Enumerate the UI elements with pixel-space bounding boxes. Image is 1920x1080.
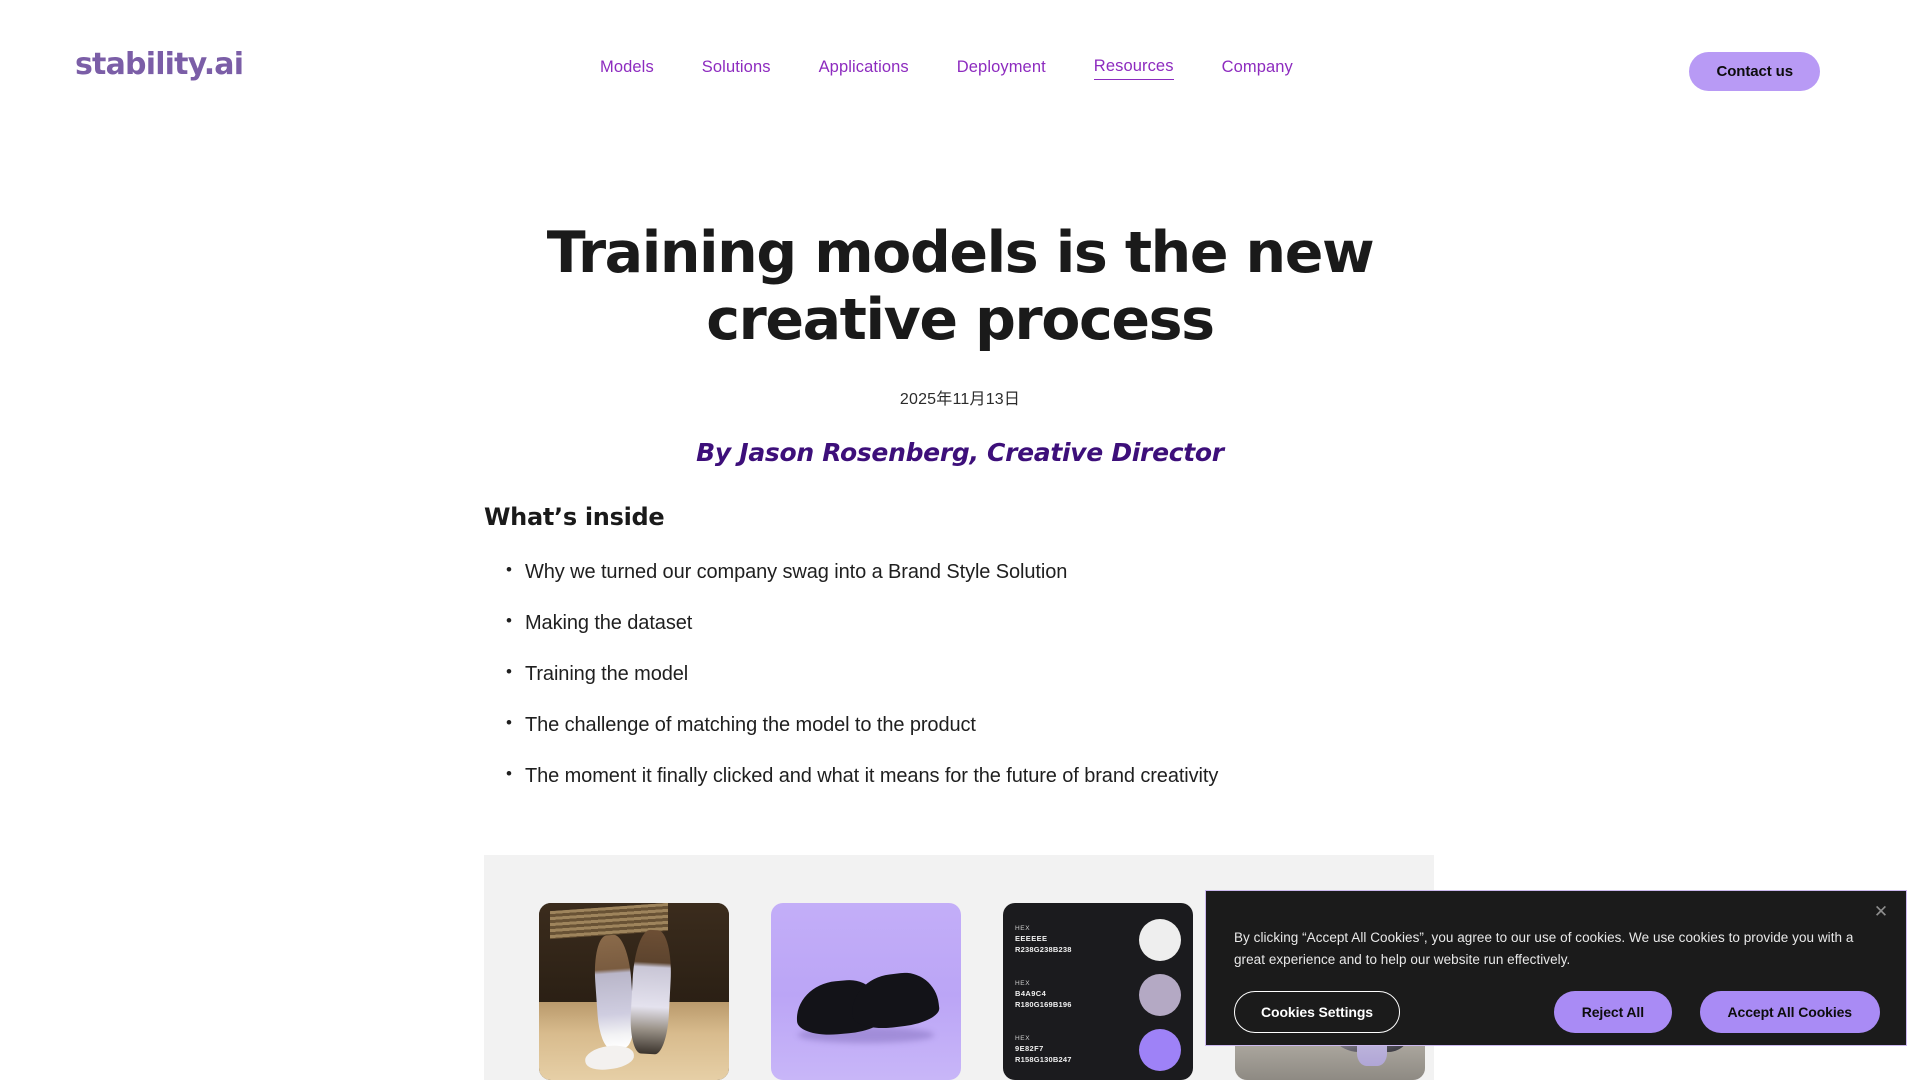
close-icon[interactable]: ✕ xyxy=(1870,900,1892,922)
nav-item-models[interactable]: Models xyxy=(600,58,654,80)
list-item: The challenge of matching the model to t… xyxy=(506,715,1218,735)
cookie-message: By clicking “Accept All Cookies”, you ag… xyxy=(1234,927,1874,971)
gallery-image-shoes[interactable] xyxy=(771,903,961,1080)
list-item: Making the dataset xyxy=(506,613,1218,633)
hex-code: EEEEEE xyxy=(1015,934,1072,945)
author-byline: By Jason Rosenberg, Creative Director xyxy=(480,438,1440,467)
hex-label: HEX xyxy=(1015,979,1072,988)
hex-code: 9E82F7 xyxy=(1015,1044,1072,1055)
whats-inside-heading: What’s inside xyxy=(484,503,664,531)
list-item: Why we turned our company swag into a Br… xyxy=(506,562,1218,582)
cookies-settings-button[interactable]: Cookies Settings xyxy=(1234,991,1400,1033)
palette-row: HEX EEEEEE R238G238B238 xyxy=(1015,917,1181,963)
nav-item-solutions[interactable]: Solutions xyxy=(702,58,771,80)
swatch-dot xyxy=(1139,1029,1181,1071)
nav-item-deployment[interactable]: Deployment xyxy=(957,58,1046,80)
hex-label: HEX xyxy=(1015,1034,1072,1043)
decor-shoe-right xyxy=(848,969,941,1032)
nav-item-resources[interactable]: Resources xyxy=(1094,57,1174,80)
palette-meta: HEX EEEEEE R238G238B238 xyxy=(1015,924,1072,955)
site-header: stability.ai Models Solutions Applicatio… xyxy=(0,0,1920,112)
brand-logo[interactable]: stability.ai xyxy=(75,50,243,80)
hex-label: HEX xyxy=(1015,924,1072,933)
palette-meta: HEX B4A9C4 R180G169B196 xyxy=(1015,979,1072,1010)
reject-all-button[interactable]: Reject All xyxy=(1554,991,1672,1033)
page-title: Training models is the new creative proc… xyxy=(480,220,1440,355)
accept-all-cookies-button[interactable]: Accept All Cookies xyxy=(1700,991,1881,1033)
palette-row: HEX 9E82F7 R158G130B247 xyxy=(1015,1027,1181,1073)
cookie-consent-banner: ✕ By clicking “Accept All Cookies”, you … xyxy=(1205,890,1907,1046)
publish-date: 2025年11月13日 xyxy=(480,385,1440,409)
whats-inside-list: Why we turned our company swag into a Br… xyxy=(506,562,1218,817)
palette-meta: HEX 9E82F7 R158G130B247 xyxy=(1015,1034,1072,1065)
rgb-code: R180G169B196 xyxy=(1015,1000,1072,1011)
nav-item-applications[interactable]: Applications xyxy=(819,58,909,80)
list-item: The moment it finally clicked and what i… xyxy=(506,766,1218,786)
rgb-code: R238G238B238 xyxy=(1015,945,1072,956)
list-item: Training the model xyxy=(506,664,1218,684)
hex-code: B4A9C4 xyxy=(1015,989,1072,1000)
swatch-dot xyxy=(1139,919,1181,961)
gallery-color-palette-card[interactable]: HEX EEEEEE R238G238B238 HEX B4A9C4 R180G… xyxy=(1003,903,1193,1080)
contact-us-button[interactable]: Contact us xyxy=(1689,52,1820,91)
cookie-actions: Cookies Settings Reject All Accept All C… xyxy=(1234,991,1880,1033)
main-navigation: Models Solutions Applications Deployment… xyxy=(600,57,1293,80)
rgb-code: R158G130B247 xyxy=(1015,1055,1072,1066)
swatch-dot xyxy=(1139,974,1181,1016)
palette-row: HEX B4A9C4 R180G169B196 xyxy=(1015,972,1181,1018)
gallery-image-socks[interactable] xyxy=(539,903,729,1080)
nav-item-company[interactable]: Company xyxy=(1222,58,1293,80)
